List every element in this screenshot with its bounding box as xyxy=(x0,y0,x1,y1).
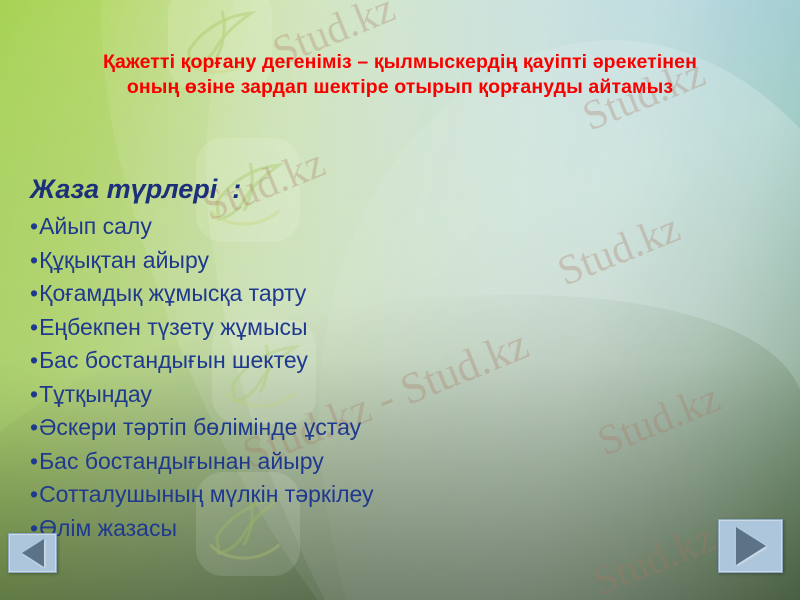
list-item: •Құқықтан айыру xyxy=(30,244,650,278)
arrow-left-icon xyxy=(22,539,44,567)
list-item: •Тұтқындау xyxy=(30,378,650,412)
slide-title-line-2: оның өзіне зардап шектіре отырып қорғану… xyxy=(0,75,800,100)
bullet-marker: • xyxy=(30,347,38,373)
list-item: •Өлім жазасы xyxy=(30,512,650,546)
list-item-label: Әскери тәртіп бөлімінде ұстау xyxy=(39,414,361,440)
bullet-marker: • xyxy=(30,314,38,340)
list-item: •Әскери тәртіп бөлімінде ұстау xyxy=(30,411,650,445)
list-item-label: Бас бостандығынан айыру xyxy=(39,448,324,474)
bullet-marker: • xyxy=(30,414,38,440)
list-item-label: Еңбекпен түзету жұмысы xyxy=(39,314,307,340)
list-item: •Бас бостандығынан айыру xyxy=(30,445,650,479)
punishment-types-list: •Айып салу •Құқықтан айыру •Қоғамдық жұм… xyxy=(30,210,650,545)
list-item: •Бас бостандығын шектеу xyxy=(30,344,650,378)
list-item: •Еңбекпен түзету жұмысы xyxy=(30,311,650,345)
list-item-label: Құқықтан айыру xyxy=(39,247,209,273)
slide-title-line-1: Қажетті қорғану дегеніміз – қылмыскердің… xyxy=(0,50,800,75)
bullet-marker: • xyxy=(30,448,38,474)
next-slide-button[interactable] xyxy=(718,519,783,573)
list-item: •Айып салу xyxy=(30,210,650,244)
arrow-right-icon xyxy=(736,527,766,565)
list-item-label: Сотталушының мүлкін тәркілеу xyxy=(39,481,373,507)
bullet-marker: • xyxy=(30,213,38,239)
list-item-label: Қоғамдық жұмысқа тарту xyxy=(39,280,306,306)
previous-slide-button[interactable] xyxy=(8,533,57,573)
list-item: •Қоғамдық жұмысқа тарту xyxy=(30,277,650,311)
section-heading: Жаза түрлері : xyxy=(30,172,650,206)
list-item-label: Тұтқындау xyxy=(39,381,152,407)
slide-title: Қажетті қорғану дегеніміз – қылмыскердің… xyxy=(0,50,800,100)
list-item: •Сотталушының мүлкін тәркілеу xyxy=(30,478,650,512)
bullet-marker: • xyxy=(30,381,38,407)
list-item-label: Айып салу xyxy=(39,213,152,239)
list-item-label: Өлім жазасы xyxy=(39,515,177,541)
bullet-marker: • xyxy=(30,481,38,507)
bullet-marker: • xyxy=(30,280,38,306)
bullet-marker: • xyxy=(30,247,38,273)
slide-body: Жаза түрлері : •Айып салу •Құқықтан айыр… xyxy=(30,172,650,545)
list-item-label: Бас бостандығын шектеу xyxy=(39,347,308,373)
presentation-slide: Stud.kz Stud.kz Stud.kz Stud.kz Stud.kz … xyxy=(0,0,800,600)
